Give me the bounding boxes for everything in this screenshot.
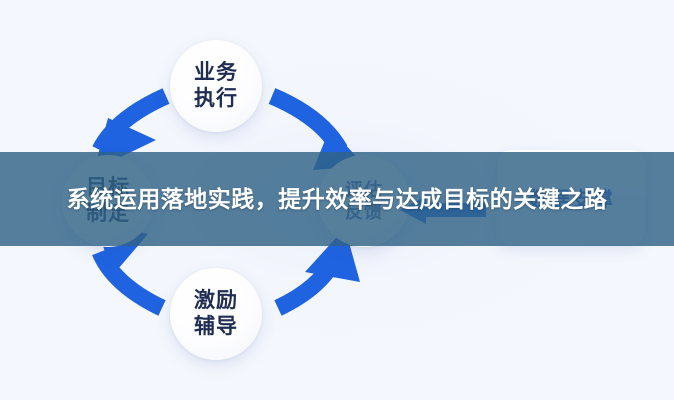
node-label-line2: 辅导	[194, 314, 238, 340]
title-banner: 系统运用落地实践，提升效率与达成目标的关键之路	[0, 152, 674, 246]
node-incentive-coaching[interactable]: 激励 辅导	[170, 268, 262, 360]
node-label-line1: 业务	[194, 60, 238, 86]
node-label-line1: 激励	[194, 288, 238, 314]
node-business-execution[interactable]: 业务 执行	[170, 40, 262, 132]
page-title: 系统运用落地实践，提升效率与达成目标的关键之路	[32, 183, 642, 216]
infographic-canvas: 业务 执行 目标 制定 评估 反馈 激励 辅导 数据支撑 系统运用落地实践，提升…	[0, 0, 674, 400]
node-label-line2: 执行	[194, 86, 238, 112]
